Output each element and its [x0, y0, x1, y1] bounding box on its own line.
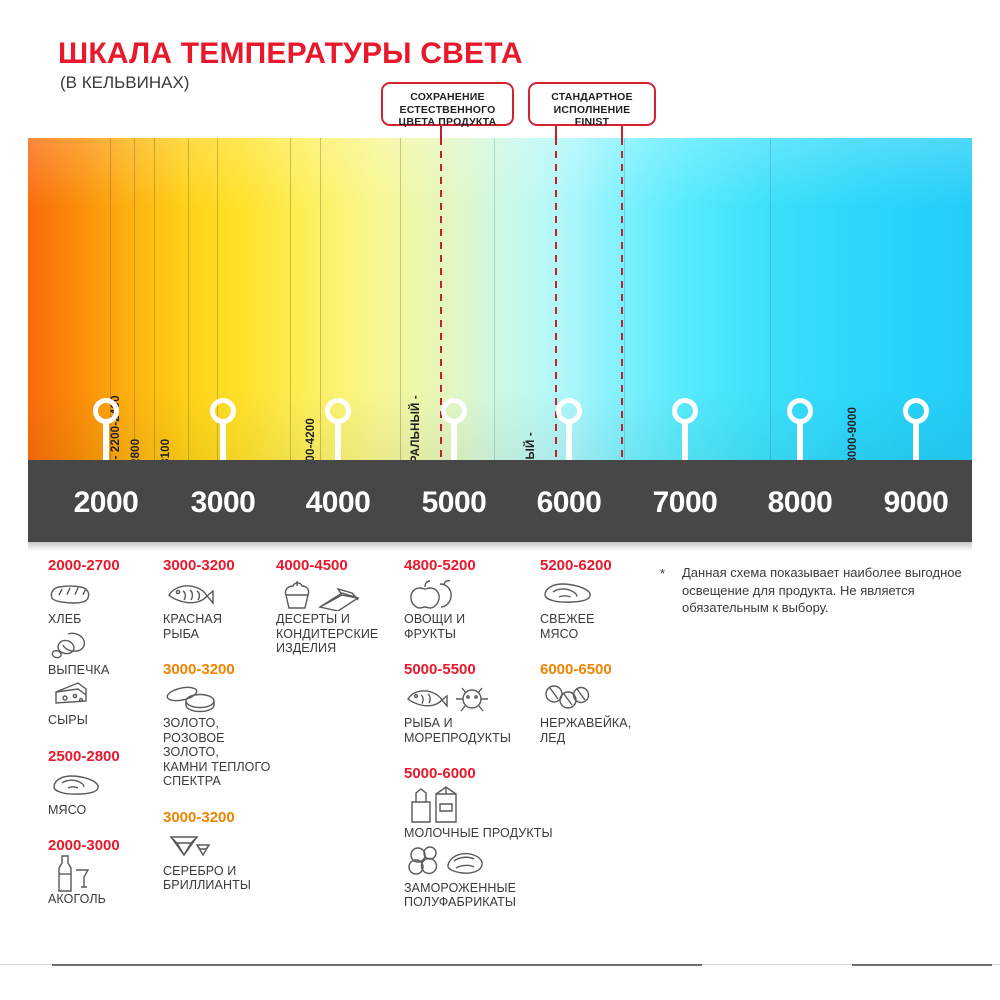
- dessert-icon: [276, 576, 396, 612]
- legend-caption: СЫРЫ: [48, 713, 160, 728]
- band-separator: [154, 138, 155, 460]
- kelvin-scale-bar: 2000 3000 4000 5000 6000 7000 8000 9000: [28, 460, 972, 542]
- band-label-warm-2700-name: ТЕПЛЫЙ - 2600-2800: [130, 439, 143, 460]
- legend-group: 4800-5200 ОВОЩИ И ФРУКТЫ: [404, 556, 536, 641]
- band-gloss-overlay: [28, 138, 972, 460]
- cheese-icon: [48, 677, 160, 713]
- scale-tick-4000: 4000: [283, 486, 393, 520]
- legend-caption: ДЕСЕРТЫ И КОНДИТЕРСКИЕ ИЗДЕЛИЯ: [276, 612, 396, 656]
- marker-stem: [797, 421, 803, 460]
- callout-natural-line-2: ЕСТЕСТВЕННОГО: [383, 104, 512, 117]
- fruit-icon: [404, 576, 536, 612]
- legend-caption: ОВОЩИ И ФРУКТЫ: [404, 612, 536, 641]
- band-separator: [494, 138, 495, 460]
- legend-caption: ХЛЕБ: [48, 612, 160, 627]
- marker-stem: [566, 421, 572, 460]
- scale-tick-8000: 8000: [745, 486, 855, 520]
- legend-range: 3000-3200: [163, 660, 275, 680]
- band-separator: [188, 138, 189, 460]
- scale-tick-3000: 3000: [168, 486, 278, 520]
- band-label-daylight-neutral-name: ДНЕВНОЙ НЕЙТРАЛЬНЫЙ -: [410, 395, 423, 460]
- band-label-cold: ХОЛОДНЫЙ - 8000-9000: [847, 407, 860, 460]
- band-label-daylight: ДНЕВНОЙ - 3800-4200: [305, 418, 318, 460]
- legend-column-2: 3000-3200 КРАСНАЯ РЫБА 3000-3200: [163, 556, 275, 898]
- band-label-warm-3000: ТЕПЛЫЙ - 2900-3100 (тип К 3000): [160, 439, 186, 460]
- bottom-rule-left: [52, 964, 702, 966]
- legend-range: 5000-5500: [404, 660, 536, 680]
- band-label-warm-3000-name: ТЕПЛЫЙ - 2900-3100: [160, 439, 173, 460]
- legend-caption: АКОГОЛЬ: [48, 892, 160, 907]
- legend-range: 3000-3200: [163, 556, 275, 576]
- legend-group: 2000-3000 АКОГОЛЬ: [48, 836, 160, 907]
- marker-stem: [103, 421, 109, 460]
- legend-range: 3000-3200: [163, 808, 275, 828]
- legend-group: 3000-3200 СЕРЕБРО И БРИЛЛИАНТЫ: [163, 808, 275, 893]
- band-separator: [400, 138, 401, 460]
- rings-icon: [163, 680, 275, 716]
- meat-icon: [48, 767, 160, 803]
- legend: 2000-2700 ХЛЕБ ВЫПЕЧКА: [0, 556, 1000, 956]
- legend-caption: СВЕЖЕЕ МЯСО: [540, 612, 648, 641]
- page-title: ШКАЛА ТЕМПЕРАТУРЫ СВЕТА: [58, 37, 523, 71]
- band-label-cool-white-name: БЕЛЫЙ ХОЛОДНЫЙ -: [525, 432, 538, 460]
- color-temperature-band: СУПЕР ТЕПЛЫЙ - 2200-2400 (тип К 2400) ТЕ…: [28, 138, 972, 460]
- footnote-asterisk: *: [660, 566, 665, 581]
- header: ШКАЛА ТЕМПЕРАТУРЫ СВЕТА (В КЕЛЬВИНАХ) СО…: [0, 0, 1000, 138]
- callout-natural-line-3: ЦВЕТА ПРОДУКТА: [383, 116, 512, 129]
- pastry-icon: [48, 627, 160, 663]
- band-label-daylight-neutral: ДНЕВНОЙ НЕЙТРАЛЬНЫЙ - 4800-5200: [410, 395, 436, 460]
- alcohol-icon: [48, 856, 160, 892]
- fresh-meat-icon: [540, 576, 648, 612]
- scale-tick-5000: 5000: [399, 486, 509, 520]
- legend-group: 5200-6200 СВЕЖЕЕ МЯСО: [540, 556, 648, 641]
- legend-column-4: 4800-5200 ОВОЩИ И ФРУКТЫ 5000-5500: [404, 556, 536, 915]
- legend-caption: МЯСО: [48, 803, 160, 818]
- guide-line-finist-right: [621, 138, 623, 460]
- footnote-text: Данная схема показывает наиболее выгодно…: [682, 564, 980, 617]
- marker-stem: [682, 421, 688, 460]
- legend-caption: СЕРЕБРО И БРИЛЛИАНТЫ: [163, 864, 275, 893]
- legend-column-1: 2000-2700 ХЛЕБ ВЫПЕЧКА: [48, 556, 160, 912]
- bread-icon: [48, 576, 160, 612]
- legend-group: 2500-2800 МЯСО: [48, 747, 160, 818]
- callout-natural-line-1: СОХРАНЕНИЕ: [383, 91, 512, 104]
- legend-group: 5000-5500 РЫБА И МОРЕПРОДУКТЫ: [404, 660, 536, 745]
- callout-finist-line-1: СТАНДАРТНОЕ: [530, 91, 654, 104]
- legend-caption: НЕРЖАВЕЙКА, ЛЕД: [540, 716, 648, 745]
- band-label-daylight-neutral-sub: 4800-5200: [423, 395, 436, 460]
- legend-range: 2000-2700: [48, 556, 160, 576]
- legend-group: 3000-3200 ЗОЛОТО, РОЗОВОЕ ЗОЛОТО, КАМНИ …: [163, 660, 275, 789]
- legend-group: 2000-2700 ХЛЕБ ВЫПЕЧКА: [48, 556, 160, 728]
- marker-stem: [913, 421, 919, 460]
- legend-range: 2000-3000: [48, 836, 160, 856]
- legend-group: 3000-3200 КРАСНАЯ РЫБА: [163, 556, 275, 641]
- footnote: * Данная схема показывает наиболее выгод…: [660, 564, 980, 617]
- legend-range: 2500-2800: [48, 747, 160, 767]
- legend-caption: МОЛОЧНЫЕ ПРОДУКТЫ: [404, 826, 536, 841]
- callout-finist-line-3: FINIST: [530, 116, 654, 129]
- legend-range: 4800-5200: [404, 556, 536, 576]
- legend-caption: ВЫПЕЧКА: [48, 663, 160, 678]
- callout-finist-line-2: ИСПОЛНЕНИЕ: [530, 104, 654, 117]
- band-label-cold-name: ХОЛОДНЫЙ - 8000-9000: [847, 407, 860, 460]
- band-label-daylight-name: ДНЕВНОЙ - 3800-4200: [305, 418, 318, 460]
- marker-stem: [451, 421, 457, 460]
- legend-caption: РЫБА И МОРЕПРОДУКТЫ: [404, 716, 536, 745]
- legend-caption: ЗОЛОТО, РОЗОВОЕ ЗОЛОТО, КАМНИ ТЕПЛОГО СП…: [163, 716, 275, 789]
- legend-caption: КРАСНАЯ РЫБА: [163, 612, 275, 641]
- scale-tick-2000: 2000: [51, 486, 161, 520]
- legend-column-5: 5200-6200 СВЕЖЕЕ МЯСО 6000-6500: [540, 556, 648, 750]
- ice-icon: [540, 680, 648, 716]
- band-label-cool-white-sub: 5800-6500: [538, 432, 551, 460]
- legend-range: 4000-4500: [276, 556, 396, 576]
- band-separator: [624, 138, 625, 460]
- callout-natural-color: СОХРАНЕНИЕ ЕСТЕСТВЕННОГО ЦВЕТА ПРОДУКТА: [381, 82, 514, 126]
- band-separator: [290, 138, 291, 460]
- marker-stem: [220, 421, 226, 460]
- band-label-cool-white: БЕЛЫЙ ХОЛОДНЫЙ - 5800-6500: [525, 432, 551, 460]
- diamond-icon: [163, 828, 275, 864]
- band-label-warm-2700-sub: (тип К 2700): [143, 439, 156, 460]
- band-label-warm-3000-sub: (тип К 3000): [173, 439, 186, 460]
- red-fish-icon: [163, 576, 275, 612]
- bottom-rule-right: [852, 964, 992, 966]
- scale-bar-shadow: [28, 542, 972, 551]
- frozen-icon: [404, 841, 536, 881]
- marker-stem: [335, 421, 341, 460]
- dairy-icon: [404, 784, 536, 826]
- scale-tick-9000: 9000: [861, 486, 971, 520]
- callout-finist-standard: СТАНДАРТНОЕ ИСПОЛНЕНИЕ FINIST: [528, 82, 656, 126]
- legend-caption: ЗАМОРОЖЕННЫЕ ПОЛУФАБРИКАТЫ: [404, 881, 536, 910]
- legend-range: 6000-6500: [540, 660, 648, 680]
- seafood-icon: [404, 680, 536, 716]
- band-separator: [770, 138, 771, 460]
- page-subtitle: (В КЕЛЬВИНАХ): [60, 73, 189, 93]
- scale-tick-6000: 6000: [514, 486, 624, 520]
- legend-range: 5000-6000: [404, 764, 536, 784]
- scale-tick-7000: 7000: [630, 486, 740, 520]
- legend-group: 4000-4500 ДЕСЕРТЫ И КОНДИТЕРСКИЕ ИЗДЕЛИЯ: [276, 556, 396, 656]
- legend-column-3: 4000-4500 ДЕСЕРТЫ И КОНДИТЕРСКИЕ ИЗДЕЛИЯ: [276, 556, 396, 661]
- legend-group: 6000-6500 НЕРЖАВЕЙКА, ЛЕД: [540, 660, 648, 745]
- legend-range: 5200-6200: [540, 556, 648, 576]
- band-separator: [320, 138, 321, 460]
- legend-group: 5000-6000 МОЛОЧНЫЕ ПРОДУКТЫ: [404, 764, 536, 910]
- band-label-warm-2700: ТЕПЛЫЙ - 2600-2800 (тип К 2700): [130, 439, 156, 460]
